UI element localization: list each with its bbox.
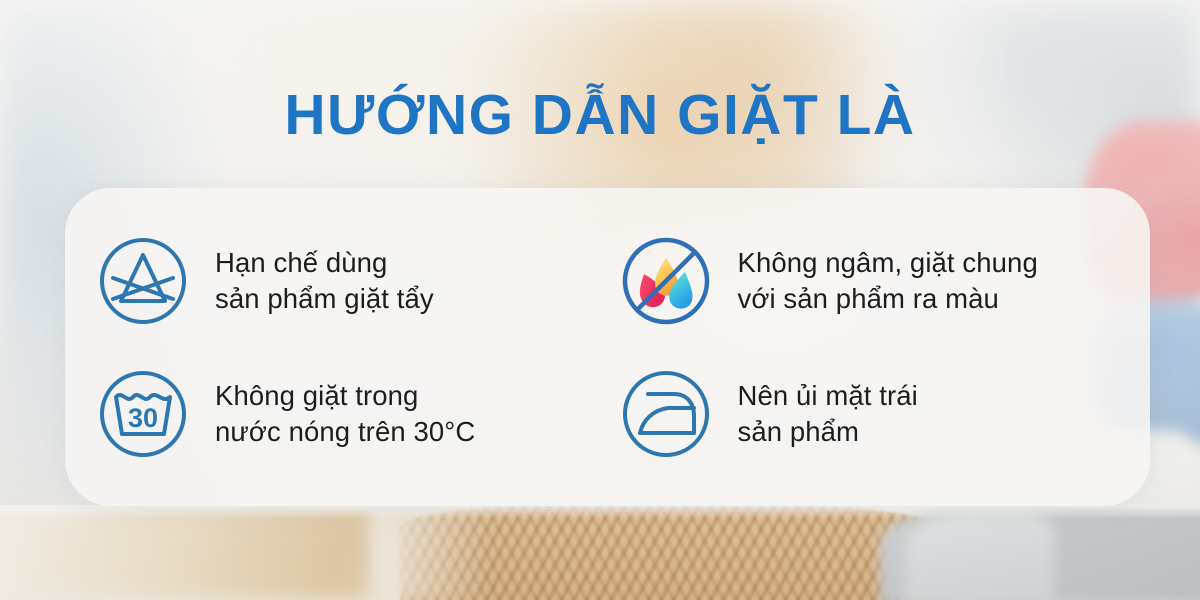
wash-temperature-icon: 30: [93, 364, 193, 464]
care-instructions-panel: Hạn chế dùng sản phẩm giặt tẩy: [65, 188, 1150, 506]
care-instructions-grid: Hạn chế dùng sản phẩm giặt tẩy: [65, 188, 1150, 506]
care-item-no-color-bleed: Không ngâm, giặt chung với sản phẩm ra m…: [610, 214, 1133, 347]
no-color-bleed-icon: [616, 231, 716, 331]
care-item-wash-temperature: 30 Không giặt trong nước nóng trên 30°C: [87, 347, 610, 480]
care-item-label: Không ngâm, giặt chung với sản phẩm ra m…: [738, 245, 1038, 317]
basket-left-fade: [370, 505, 490, 600]
care-item-iron: Nên ủi mặt trái sản phẩm: [610, 347, 1133, 480]
infographic-canvas: HƯỚNG DẪN GIẶT LÀ Hạn chế dùng sản phẩm …: [0, 0, 1200, 600]
background-basket-strip: [0, 505, 1200, 600]
page-title: HƯỚNG DẪN GIẶT LÀ: [0, 86, 1200, 146]
iron-inside-out-icon: [616, 364, 716, 464]
gray-cloth-fold: [905, 507, 1055, 600]
do-not-bleach-icon: [93, 231, 193, 331]
care-item-label: Không giặt trong nước nóng trên 30°C: [215, 378, 475, 450]
care-item-label: Nên ủi mặt trái sản phẩm: [738, 378, 918, 450]
strip-highlight: [0, 505, 1200, 519]
care-item-do-not-bleach: Hạn chế dùng sản phẩm giặt tẩy: [87, 214, 610, 347]
care-item-label: Hạn chế dùng sản phẩm giặt tẩy: [215, 245, 434, 317]
wash-temperature-value: 30: [128, 403, 158, 433]
